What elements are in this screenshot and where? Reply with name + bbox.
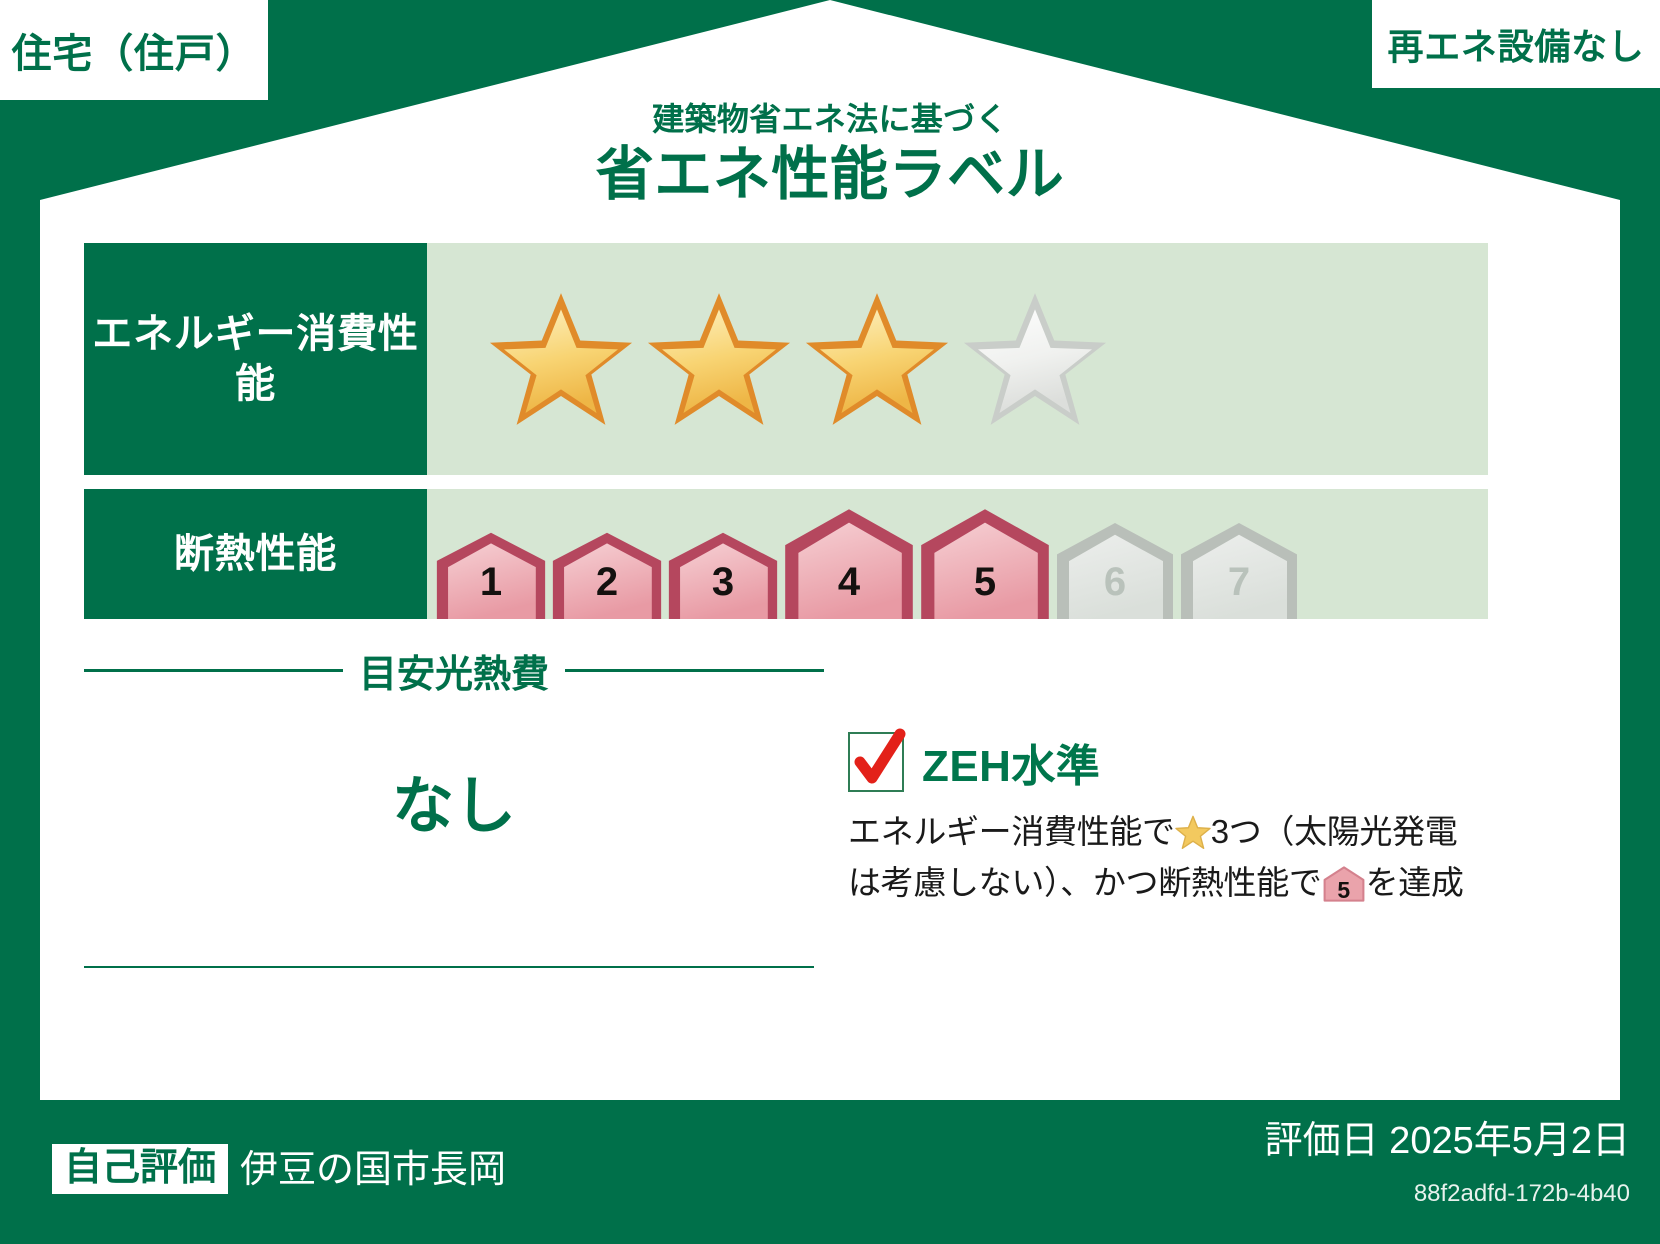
insulation-rating: 1234567: [435, 507, 1303, 619]
house-level-number: 5: [1322, 879, 1366, 902]
energy-performance-value: [427, 243, 1488, 475]
zeh-heading: ZEH水準: [848, 730, 1508, 794]
zeh-desc-part4: を達成: [1366, 864, 1464, 901]
building-type-badge: 住宅（住戸）: [0, 0, 268, 100]
star-icon-filled: [487, 288, 635, 430]
star-icon-filled: [645, 288, 793, 430]
label-title-block: 建築物省エネ法に基づく 省エネ性能ラベル: [0, 100, 1660, 209]
insulation-level-number: 5: [919, 560, 1051, 605]
footer: 自己評価 伊豆の国市長岡 評価日 2025年5月2日 88f2adfd-172b…: [0, 1100, 1660, 1244]
insulation-level-number: 4: [783, 560, 915, 605]
utility-cost-value: なし: [84, 755, 824, 845]
energy-label-card: 住宅（住戸） 再エネ設備なし 建築物省エネ法に基づく 省エネ性能ラベル エネルギ…: [0, 0, 1660, 1244]
zeh-title: ZEH水準: [922, 730, 1100, 794]
insulation-house-unachieved: 7: [1179, 521, 1299, 619]
insulation-performance-row: 断熱性能 1234567: [84, 489, 1488, 619]
title-subtitle: 建築物省エネ法に基づく: [0, 100, 1660, 138]
house-level-icon: 5: [1322, 865, 1366, 901]
insulation-house-unachieved: 6: [1055, 521, 1175, 619]
star-icon-filled: [803, 288, 951, 430]
title-main: 省エネ性能ラベル: [0, 142, 1660, 209]
energy-performance-row: エネルギー消費性能: [84, 243, 1488, 475]
renewable-energy-badge: 再エネ設備なし: [1372, 0, 1660, 88]
star-face: [820, 309, 934, 413]
insulation-house-achieved: 4: [783, 507, 915, 619]
evaluation-date: 評価日 2025年5月2日: [1265, 1109, 1630, 1164]
star-face: [978, 309, 1092, 413]
insulation-house-achieved: 3: [667, 531, 779, 619]
star-icon: [1175, 812, 1211, 846]
zeh-desc-part3: は考慮しない）、かつ断熱性能で: [848, 864, 1322, 901]
zeh-checkbox[interactable]: [848, 732, 904, 792]
insulation-house-achieved: 1: [435, 531, 547, 619]
insulation-house-achieved: 2: [551, 531, 663, 619]
evaluator-name: 伊豆の国市長岡: [240, 1148, 506, 1194]
insulation-house-achieved: 5: [919, 507, 1051, 619]
insulation-performance-label: 断熱性能: [84, 489, 427, 619]
check-icon: [848, 728, 910, 796]
evaluation-id: 88f2adfd-172b-4b40: [1414, 1180, 1630, 1208]
insulation-level-number: 7: [1179, 560, 1299, 605]
utility-cost-bottom-rule: [84, 966, 814, 968]
star-icon-empty: [961, 288, 1109, 430]
insulation-level-number: 2: [551, 560, 663, 605]
star-face: [504, 309, 618, 413]
evaluation-type-badge: 自己評価: [52, 1144, 228, 1194]
divider-right: [565, 669, 824, 672]
insulation-performance-value: 1234567: [427, 489, 1488, 619]
insulation-level-number: 3: [667, 560, 779, 605]
insulation-level-number: 6: [1055, 560, 1175, 605]
divider-left: [84, 669, 343, 672]
insulation-level-number: 1: [435, 560, 547, 605]
zeh-desc-part2: 3つ（太陽光発電: [1211, 813, 1458, 850]
zeh-block: ZEH水準 エネルギー消費性能で3つ（太陽光発電は考慮しない）、かつ断熱性能で5…: [848, 730, 1508, 908]
energy-performance-label: エネルギー消費性能: [84, 243, 427, 475]
star-face: [662, 309, 776, 413]
utility-cost-label: 目安光熱費: [359, 643, 549, 698]
utility-cost-heading: 目安光熱費: [84, 640, 824, 700]
zeh-description: エネルギー消費性能で3つ（太陽光発電は考慮しない）、かつ断熱性能で5を達成: [848, 806, 1508, 908]
zeh-desc-part1: エネルギー消費性能で: [848, 813, 1175, 850]
star-rating: [487, 288, 1109, 430]
